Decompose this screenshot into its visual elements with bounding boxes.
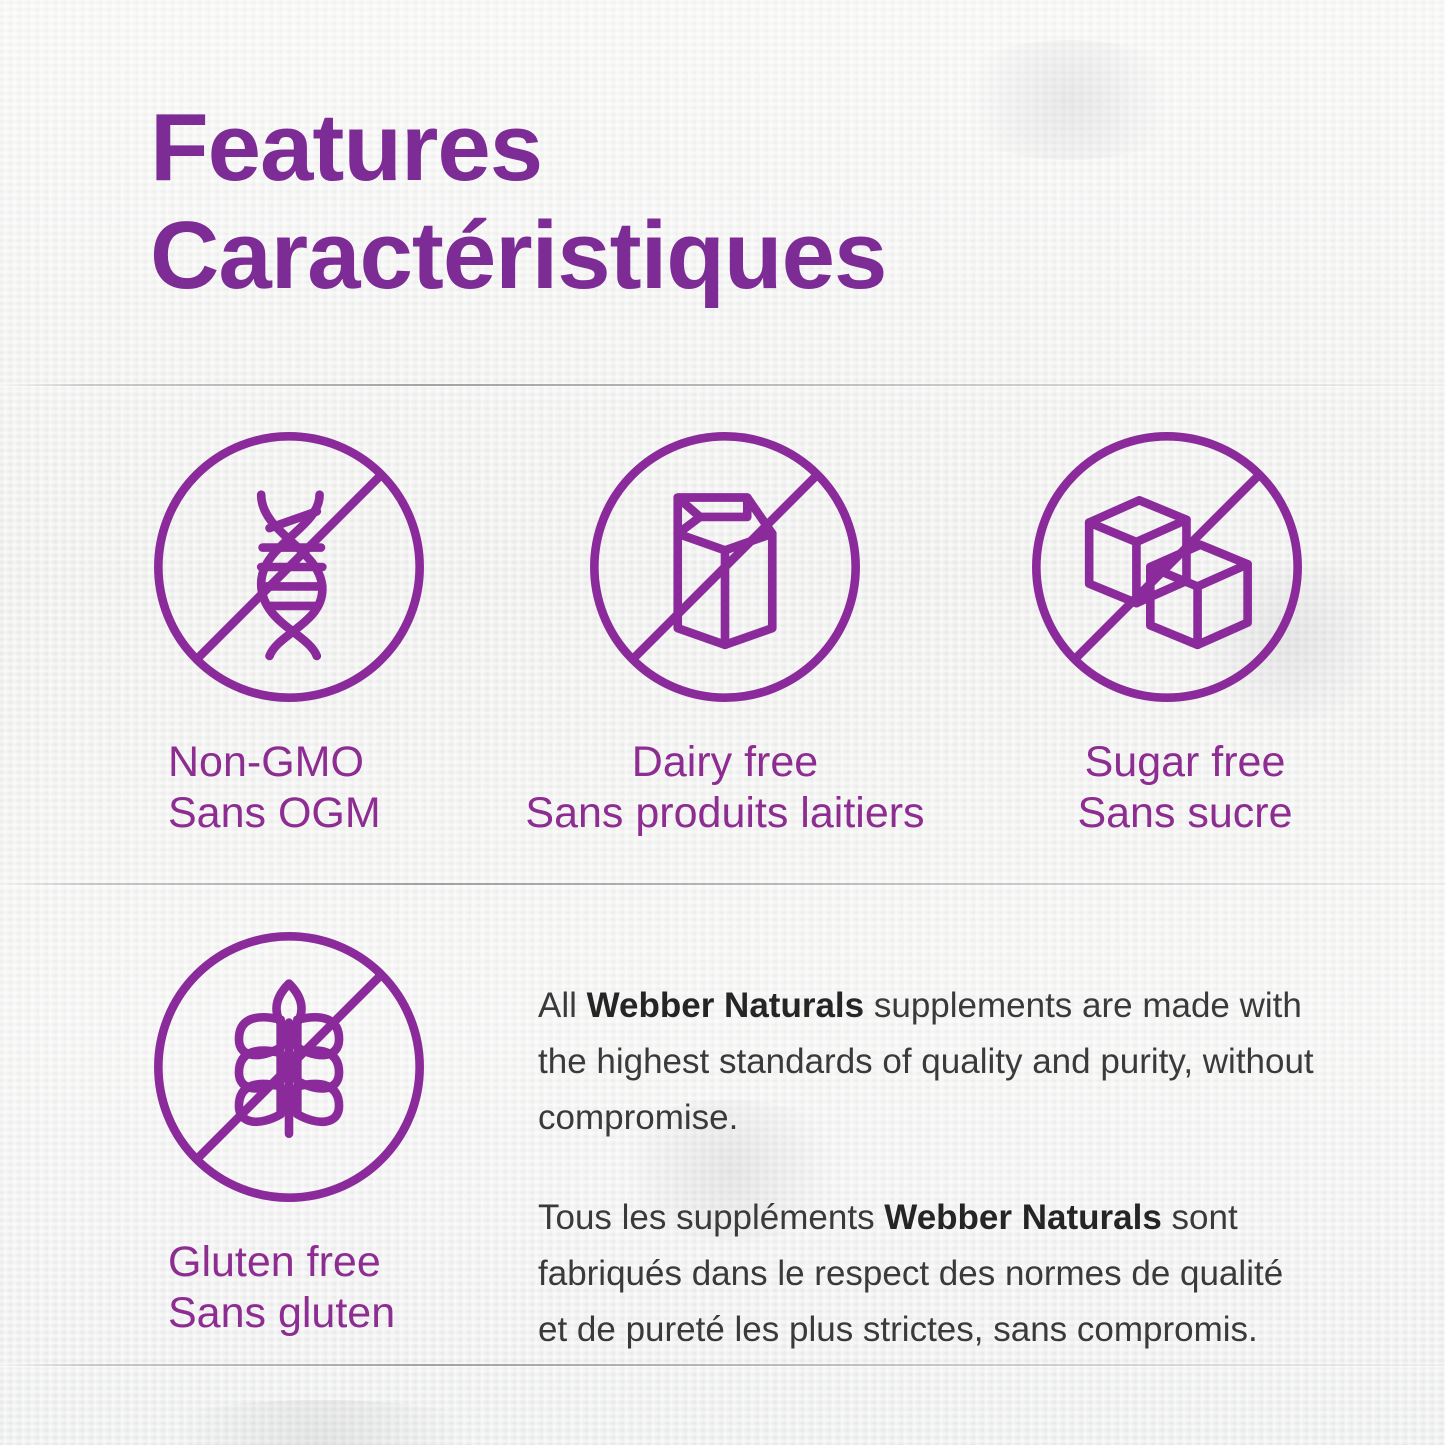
feature-label-sugar-free: Sugar free Sans sucre [1020, 737, 1350, 839]
paragraph-english: All Webber Naturals supplements are made… [538, 978, 1320, 1146]
feature-label-gluten-free: Gluten free Sans gluten [168, 1237, 488, 1339]
feature-label-fr: Sans gluten [168, 1288, 488, 1339]
brand-name: Webber Naturals [884, 1198, 1162, 1237]
feature-label-en: Non-GMO [168, 737, 468, 788]
feature-label-dairy-free: Dairy free Sans produits laitiers [460, 737, 990, 839]
feature-label-non-gmo: Non-GMO Sans OGM [168, 737, 468, 839]
no-gluten-wheat-icon [150, 928, 428, 1206]
copy-fr-before: Tous les suppléments [538, 1198, 884, 1237]
page-title: Features Caractéristiques [150, 96, 886, 312]
title-french: Caractéristiques [150, 200, 886, 312]
title-english: Features [150, 96, 886, 200]
feature-label-fr: Sans sucre [1020, 788, 1350, 839]
no-gmo-dna-icon [150, 428, 428, 706]
feature-label-en: Gluten free [168, 1237, 488, 1288]
brand-copy: All Webber Naturals supplements are made… [538, 978, 1320, 1358]
brand-name: Webber Naturals [587, 986, 865, 1025]
feature-label-fr: Sans produits laitiers [460, 788, 990, 839]
copy-en-before: All [538, 986, 587, 1025]
feature-label-en: Sugar free [1020, 737, 1350, 788]
paragraph-french: Tous les suppléments Webber Naturals son… [538, 1190, 1320, 1358]
no-dairy-milk-carton-icon [586, 428, 864, 706]
no-sugar-cubes-icon [1028, 428, 1306, 706]
feature-label-fr: Sans OGM [168, 788, 468, 839]
feature-label-en: Dairy free [460, 737, 990, 788]
